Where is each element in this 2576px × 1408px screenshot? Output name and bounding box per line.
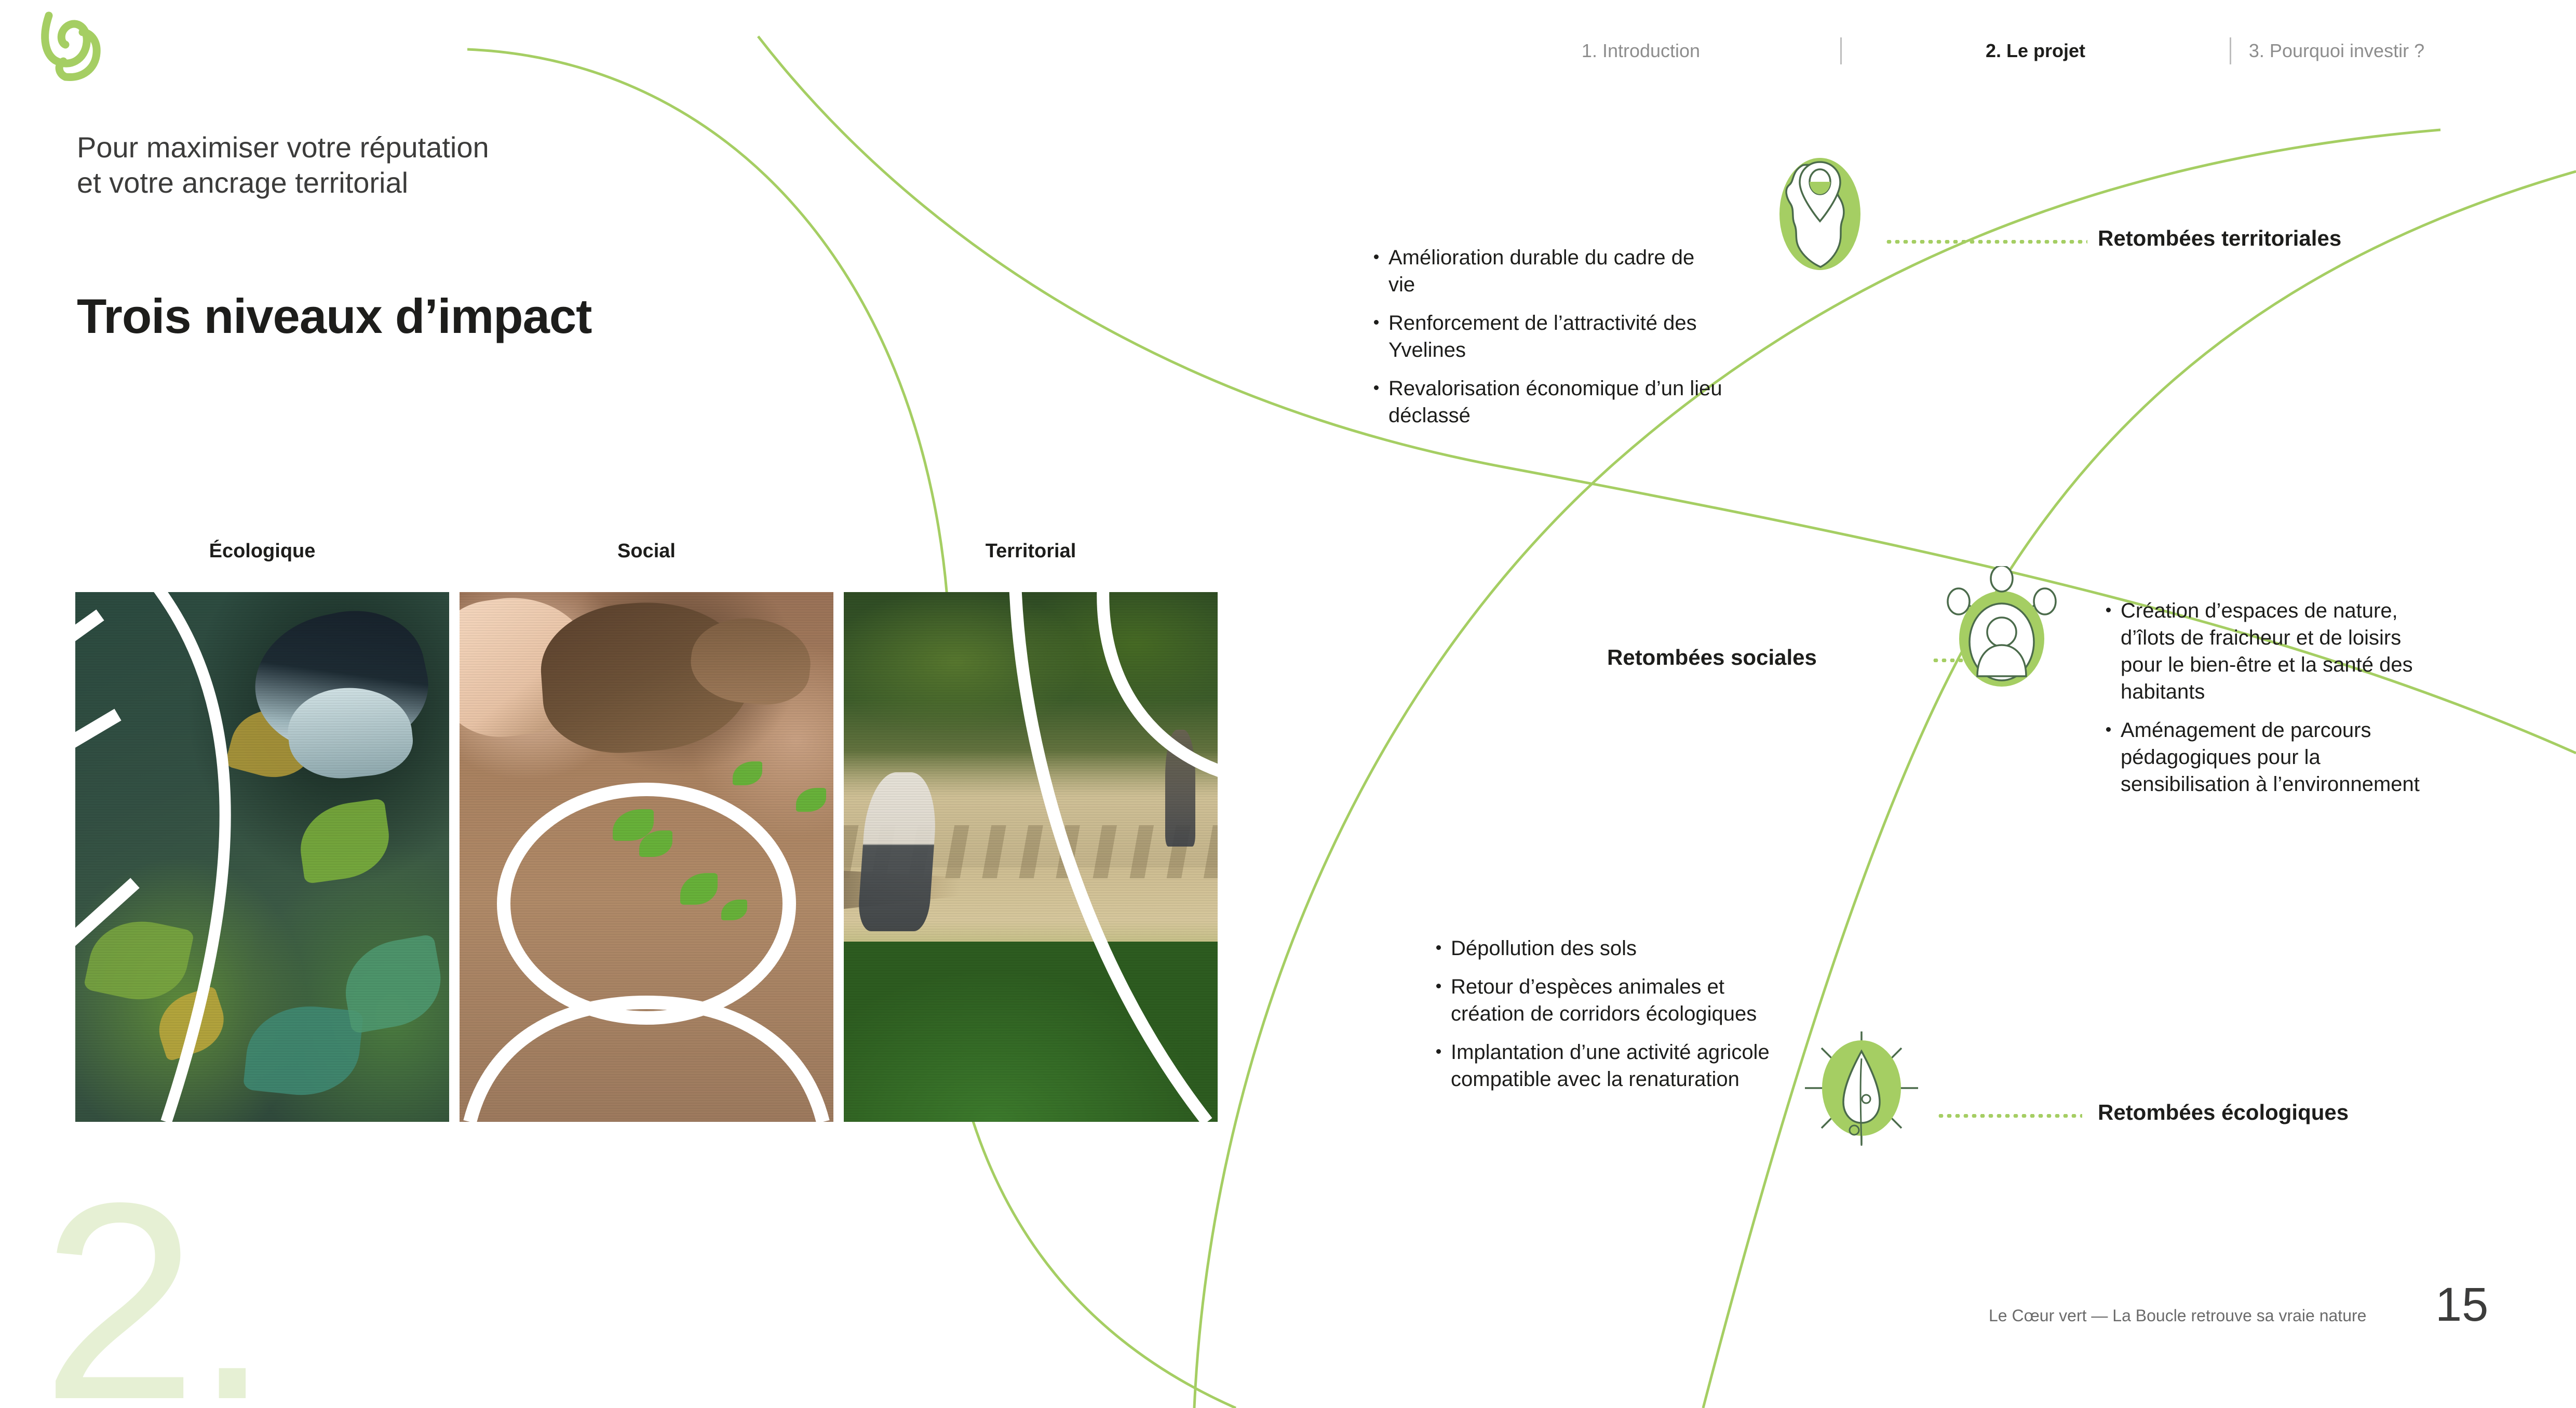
top-navigation: 1. Introduction 2. Le projet 3. Pourquoi… [1444,35,2446,66]
bullets-ecologiques: Dépollution des sols Retour d’espèces an… [1433,935,1776,1093]
nav-item-pourquoi-investir[interactable]: 3. Pourquoi investir ? [2249,40,2424,62]
nav-separator [1840,37,1842,64]
list-item: Dépollution des sols [1433,935,1776,962]
leaf-loop-logo-icon [33,10,111,83]
double-curve-overlay-icon [844,592,1218,1122]
leaf-sun-icon [1802,1028,1921,1148]
impact-label-ecologiques: Retombées écologiques [2098,1100,2349,1125]
photo-social [460,592,833,1122]
nav-item-le-projet[interactable]: 2. Le projet [1986,40,2085,62]
list-item: Revalorisation économique d’un lieu décl… [1371,375,1724,429]
impact-label-territoriales: Retombées territoriales [2098,226,2341,251]
people-group-icon [1937,566,2067,696]
list-item: Amélioration durable du cadre de vie [1371,244,1724,298]
photo-caption-social: Social [460,540,833,562]
map-pin-region-icon [1771,156,1869,270]
nav-separator [2230,37,2231,64]
photo-caption-territorial: Territorial [844,540,1218,562]
page-number: 15 [2435,1278,2488,1332]
list-item: Création d’espaces de nature, d’îlots de… [2103,597,2435,705]
impact-label-sociales: Retombées sociales [1607,645,1817,670]
list-item: Implantation d’une activité agricole com… [1433,1039,1776,1093]
connector-dots-territoriales [1885,240,2087,244]
connector-dots-ecologiques [1937,1114,2082,1118]
nav-item-introduction[interactable]: 1. Introduction [1582,40,1700,62]
person-outline-overlay-icon [460,592,833,1122]
bullets-territoriales: Amélioration durable du cadre de vie Ren… [1371,244,1724,429]
slide-eyebrow: Pour maximiser votre réputation et votre… [77,130,489,201]
list-item: Renforcement de l’attractivité des Yveli… [1371,310,1724,364]
photo-territorial [844,592,1218,1122]
footer-caption: Le Cœur vert — La Boucle retrouve sa vra… [1989,1306,2366,1325]
list-item: Retour d’espèces animales et création de… [1433,973,1776,1027]
photo-ecologique [75,592,449,1122]
slide: 2. 1. Introduction 2. Le projet 3. Pourq… [0,0,2576,1408]
photo-caption-ecologique: Écologique [75,540,449,562]
list-item: Aménagement de parcours pédagogiques pou… [2103,717,2435,798]
section-number-watermark: 2. [42,1189,267,1408]
bullets-sociales: Création d’espaces de nature, d’îlots de… [2103,597,2435,798]
leaf-curve-overlay-icon [75,592,449,1122]
page-title: Trois niveaux d’impact [77,288,591,344]
